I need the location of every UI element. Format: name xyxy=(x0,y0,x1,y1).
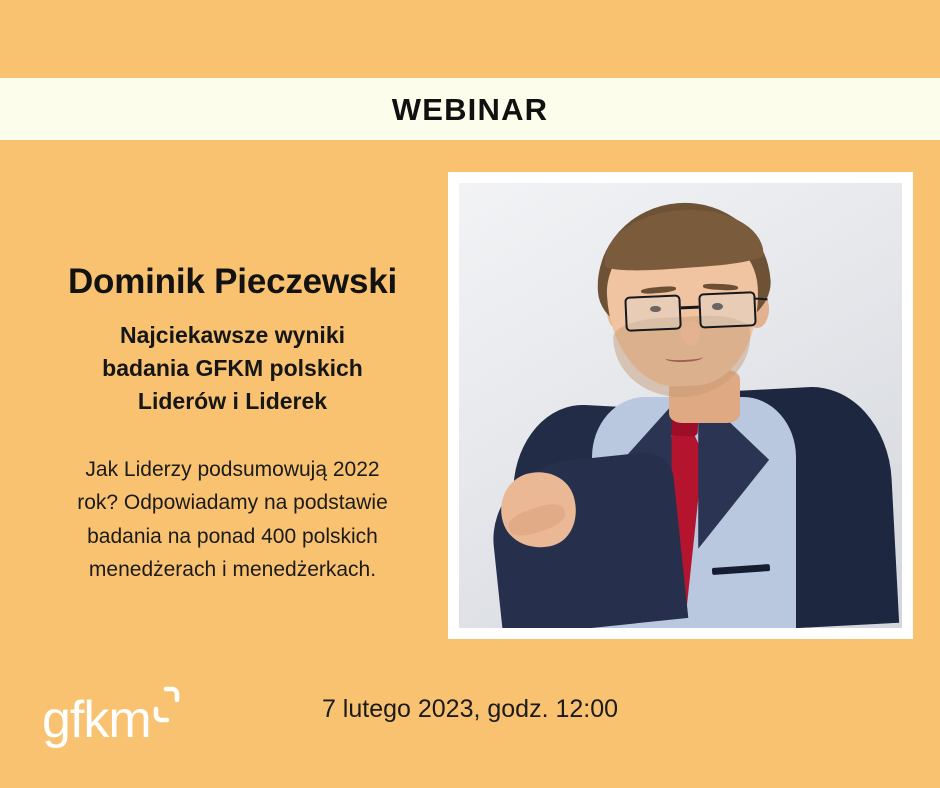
talk-title-line-2: badania GFKM polskich xyxy=(68,352,398,385)
talk-title: Najciekawsze wyniki badania GFKM polskic… xyxy=(68,319,398,417)
speaker-name: Dominik Pieczewski xyxy=(10,262,455,301)
banner-title: WEBINAR xyxy=(392,94,549,125)
description-line-1: Jak Liderzy podsumowują 2022 xyxy=(38,453,428,486)
event-date: 7 lutego 2023, godz. 12:00 xyxy=(230,694,710,724)
description-line-4: menedżerach i menedżerkach. xyxy=(38,553,428,586)
webinar-poster: WEBINAR Dominik Pieczewski Najciekawsze … xyxy=(0,0,940,788)
speaker-photo xyxy=(459,183,902,628)
speaker-photo-frame xyxy=(448,172,913,639)
description-line-2: rok? Odpowiadamy na podstawie xyxy=(38,486,428,519)
glasses-lens-left xyxy=(624,295,682,332)
webinar-banner: WEBINAR xyxy=(0,78,940,140)
talk-title-line-1: Najciekawsze wyniki xyxy=(68,319,398,352)
description-line-3: badania na ponad 400 polskich xyxy=(38,520,428,553)
gfkm-logo-text: gfkm xyxy=(42,694,151,746)
speaker-info-column: Dominik Pieczewski Najciekawsze wyniki b… xyxy=(10,262,455,586)
gfkm-logo-mark-icon xyxy=(144,686,181,723)
talk-title-line-3: Liderów i Liderek xyxy=(68,385,398,418)
glasses-lens-right xyxy=(699,291,757,328)
glasses-icon xyxy=(624,291,756,331)
gfkm-logo: gfkm xyxy=(42,686,192,748)
talk-description: Jak Liderzy podsumowują 2022 rok? Odpowi… xyxy=(38,453,428,586)
glasses-bridge xyxy=(681,306,699,309)
